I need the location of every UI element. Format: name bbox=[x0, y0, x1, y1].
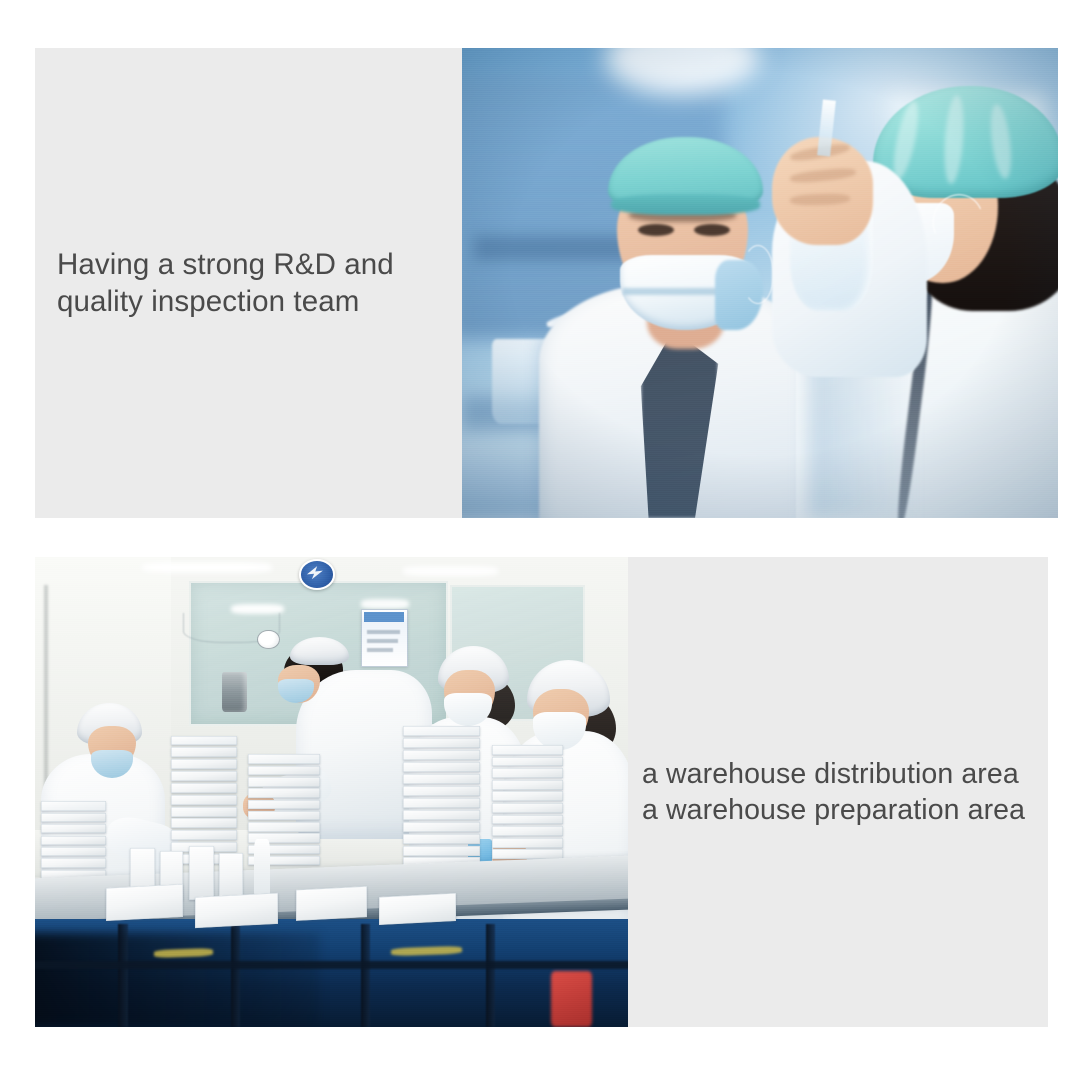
ceiling-light-strip bbox=[142, 562, 272, 573]
table-leg bbox=[118, 924, 127, 1027]
carton-flat bbox=[296, 886, 367, 920]
carton-flat bbox=[106, 884, 183, 921]
ceiling-light bbox=[361, 599, 408, 608]
caption-quality-inspection: Having a strong R&D and quality inspecti… bbox=[35, 48, 462, 518]
product-tube bbox=[254, 839, 269, 895]
carton-upright bbox=[189, 846, 214, 900]
table-leg bbox=[486, 924, 495, 1027]
caption-line: a warehouse distribution area bbox=[642, 756, 1038, 792]
wall-clock-icon bbox=[257, 630, 279, 649]
table-shadow bbox=[35, 933, 320, 1027]
panel-warehouse-areas: a warehouse distribution area a warehous… bbox=[35, 557, 1048, 1027]
lab-quality-inspection-photo bbox=[462, 48, 1058, 518]
table-rail bbox=[35, 961, 628, 969]
caption-line: Having a strong R&D and bbox=[57, 246, 452, 283]
panel-quality-inspection: Having a strong R&D and quality inspecti… bbox=[35, 48, 1058, 518]
ceiling-light-strip bbox=[403, 566, 498, 575]
notice-text-line bbox=[367, 630, 400, 634]
carton-flat bbox=[379, 893, 456, 925]
notice-text-line bbox=[367, 639, 398, 643]
carton-stack bbox=[492, 745, 563, 867]
warehouse-packaging-photo bbox=[35, 557, 628, 1027]
caption-line: a warehouse preparation area bbox=[642, 792, 1038, 828]
table-leg bbox=[231, 924, 240, 1027]
carton-stack bbox=[403, 726, 480, 867]
caption-warehouse-areas: a warehouse distribution area a warehous… bbox=[628, 557, 1048, 1027]
stainless-container bbox=[222, 672, 247, 712]
carton-upright bbox=[219, 853, 243, 900]
red-bin bbox=[551, 971, 593, 1027]
notice-header-bar bbox=[364, 612, 404, 622]
carton-flat bbox=[195, 893, 278, 928]
notice-text-line bbox=[367, 648, 393, 652]
page-root: Having a strong R&D and quality inspecti… bbox=[0, 0, 1080, 1080]
caption-line: quality inspection team bbox=[57, 283, 452, 320]
table-leg bbox=[361, 924, 370, 1027]
lab-vignette bbox=[462, 48, 1058, 518]
cleanroom-wall-edge bbox=[44, 585, 48, 801]
